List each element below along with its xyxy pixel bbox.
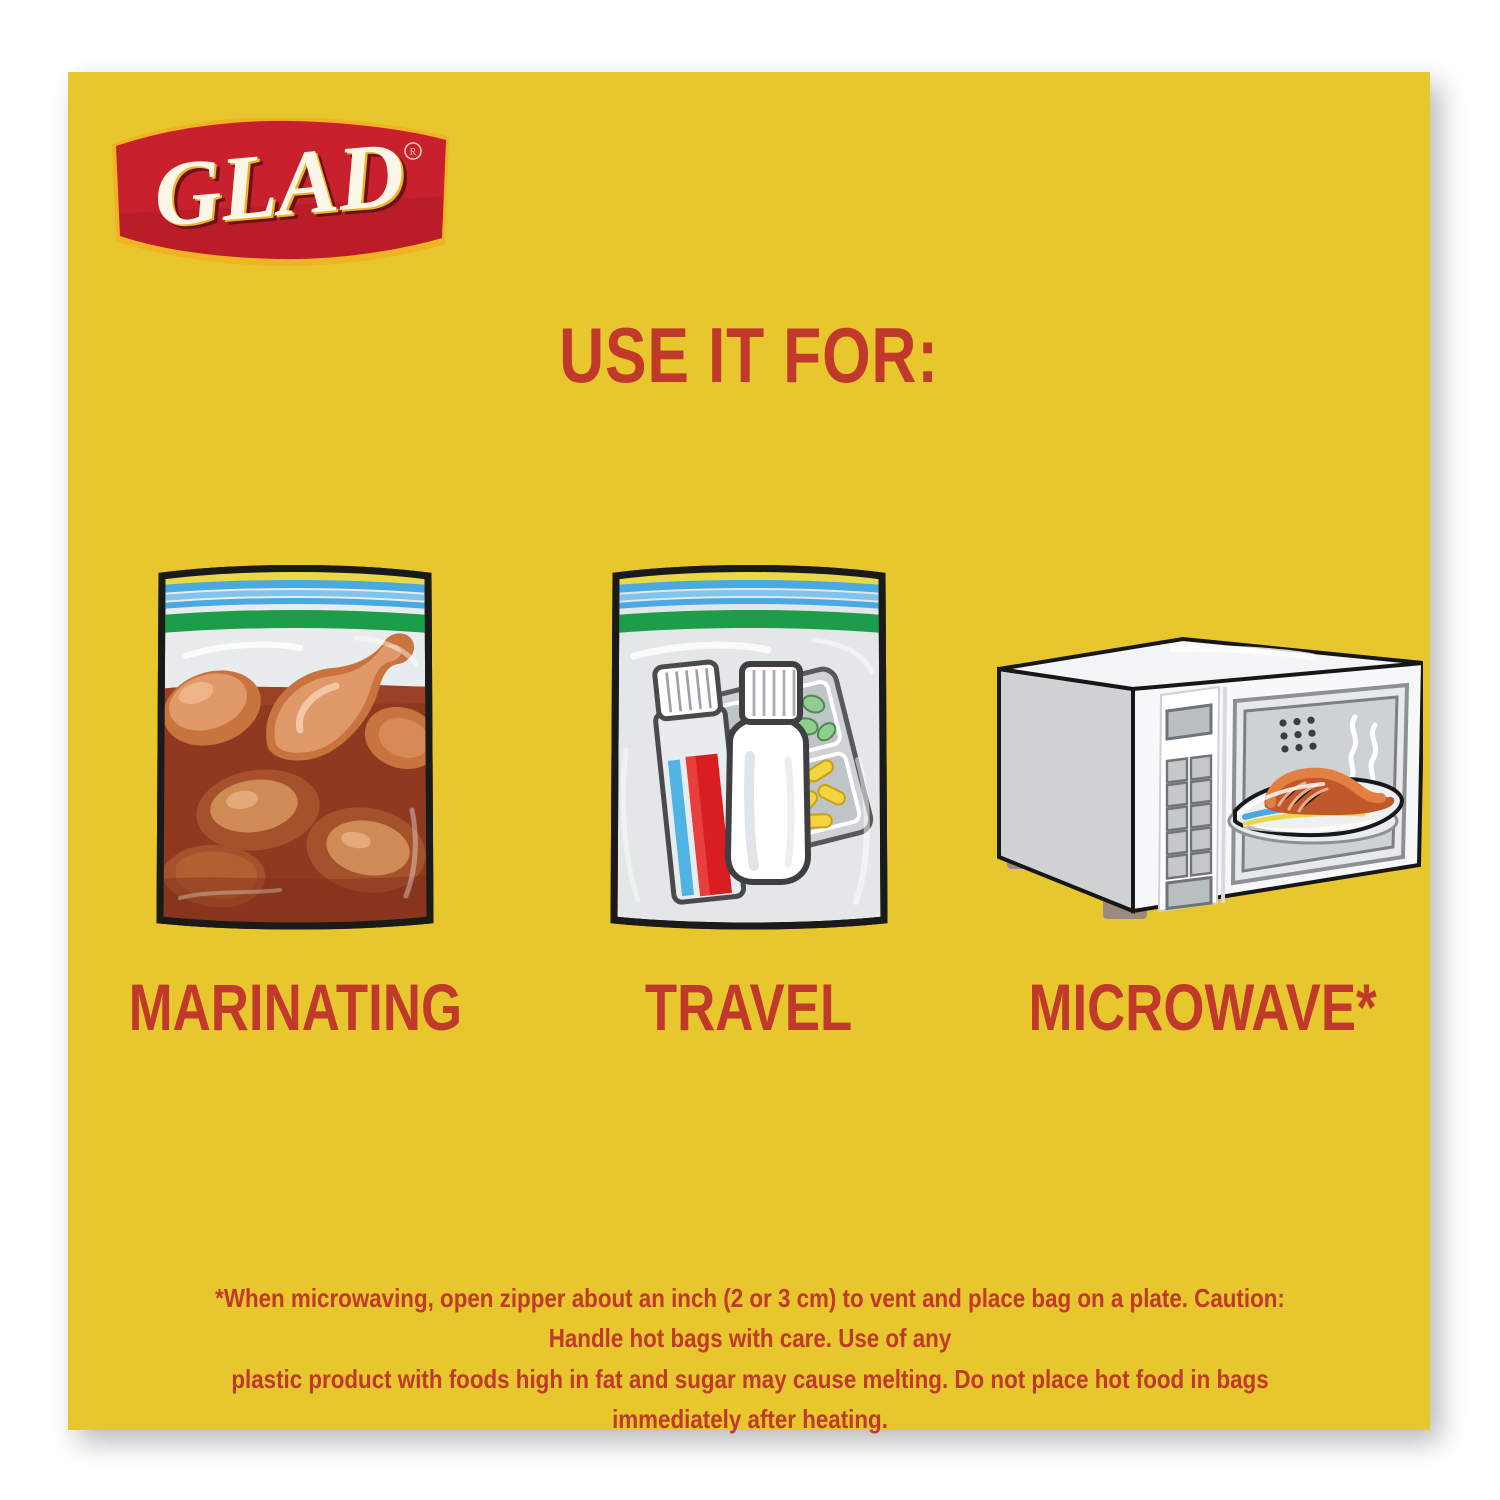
- use-case-marinating: MARINATING: [80, 560, 510, 1040]
- travel-bag-illustration: [604, 560, 894, 940]
- use-case-label-travel: TRAVEL: [645, 974, 852, 1040]
- marinating-bag-illustration: [150, 560, 440, 940]
- use-case-label-marinating: MARINATING: [128, 974, 461, 1040]
- use-case-label-microwave: MICROWAVE*: [1029, 974, 1377, 1040]
- microwave-illustration: [983, 635, 1423, 940]
- svg-text:GLAD: GLAD: [150, 122, 408, 245]
- use-case-list: MARINATING: [68, 520, 1430, 1040]
- use-case-microwave: MICROWAVE*: [988, 635, 1418, 1040]
- glad-logo: GLAD GLAD GLAD R: [110, 118, 450, 278]
- product-feature-panel: GLAD GLAD GLAD R USE IT FOR:: [0, 0, 1500, 1500]
- page-title: USE IT FOR:: [204, 316, 1294, 394]
- footnote-line-1: *When microwaving, open zipper about an …: [200, 1278, 1301, 1359]
- footnote-line-2: plastic product with foods high in fat a…: [200, 1359, 1301, 1440]
- footnote: *When microwaving, open zipper about an …: [200, 1278, 1301, 1439]
- use-case-travel: TRAVEL: [534, 560, 964, 1040]
- svg-text:R: R: [410, 147, 417, 158]
